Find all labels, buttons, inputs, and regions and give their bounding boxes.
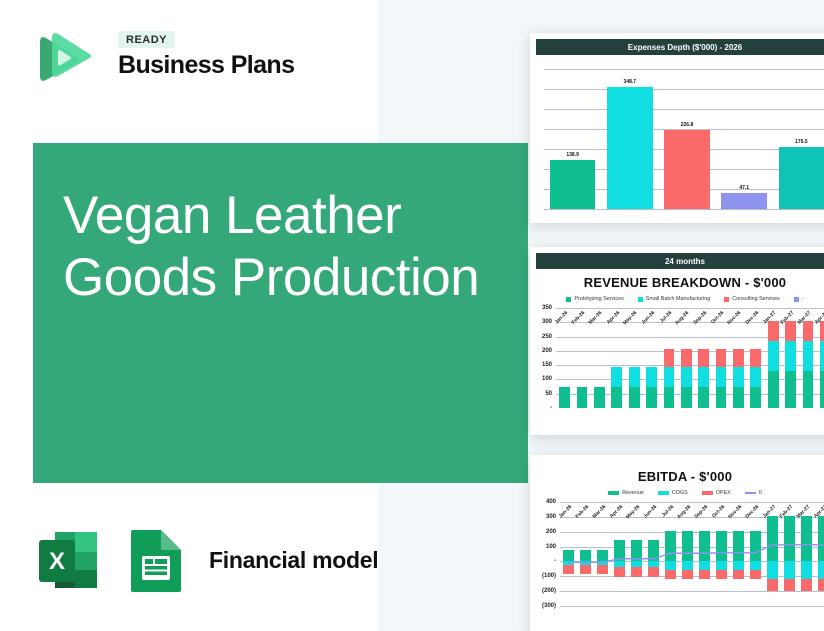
- excel-icon: X: [33, 524, 105, 596]
- stack-segment: [820, 341, 824, 372]
- stack-segment: [733, 387, 744, 408]
- stack-segment: [716, 349, 727, 366]
- y-axis-tick: (300): [542, 603, 556, 609]
- x-axis-label: Sep-26: [692, 310, 708, 326]
- stack-segment: [785, 321, 796, 341]
- stack-segment: [716, 387, 727, 408]
- bar-value-label: 138.9: [566, 152, 579, 158]
- stack-segment: [716, 367, 727, 387]
- x-axis-label: Nov-26: [727, 310, 743, 326]
- legend-item: -: [794, 296, 804, 302]
- y-axis-tick: 200: [542, 348, 552, 354]
- stack-segment: [611, 367, 622, 387]
- stack-segment: [664, 349, 675, 366]
- x-axis-label: Jun-26: [640, 310, 656, 326]
- y-axis-tick: -: [550, 405, 552, 411]
- ebitda-plot: 400300200100-(100)(200)(300)Jan-26Feb-26…: [560, 502, 824, 606]
- y-axis-tick: 50: [545, 391, 552, 397]
- legend-swatch: [566, 297, 571, 302]
- stack-segment: [559, 387, 570, 408]
- stack-segment: [611, 387, 622, 408]
- y-axis-tick: 150: [542, 362, 552, 368]
- svg-text:X: X: [49, 548, 65, 575]
- brand-name: Business Plans: [118, 52, 294, 78]
- stack-segment: [803, 321, 814, 341]
- revenue-chart-title: REVENUE BREAKDOWN - $'000: [530, 275, 824, 290]
- stack-segment: [681, 349, 692, 366]
- revenue-plot: -50100150200250300350Jan-26Feb-26Mar-26A…: [556, 308, 824, 408]
- bar: [664, 130, 710, 209]
- google-sheets-icon: [125, 524, 187, 596]
- bar: [550, 160, 596, 209]
- stack-segment: [594, 387, 605, 408]
- y-axis-tick: 400: [546, 499, 556, 505]
- bar-value-label: 348.7: [624, 79, 637, 85]
- legend-label: 0: [759, 490, 762, 496]
- stack-segment: [803, 341, 814, 372]
- stack-segment: [681, 387, 692, 408]
- legend-label: -: [802, 296, 804, 302]
- gridline: [556, 308, 824, 309]
- legend-swatch: [724, 297, 729, 302]
- bar-value-label: 226.8: [681, 122, 694, 128]
- stack-segment: [768, 371, 779, 408]
- stack-segment: [785, 341, 796, 372]
- stack-segment: [750, 349, 761, 366]
- gridline: [544, 89, 824, 90]
- legend-swatch: [745, 492, 756, 494]
- stack-segment: [664, 367, 675, 387]
- stack-segment: [577, 387, 588, 408]
- y-axis-tick: 350: [542, 305, 552, 311]
- x-axis-label: May-26: [622, 310, 638, 326]
- stack-segment: [698, 367, 709, 387]
- bar-value-label: 176.5: [795, 139, 808, 145]
- x-axis-label: Mar-26: [588, 310, 604, 326]
- ebitda-chart-title: EBITDA - $'000: [530, 469, 824, 484]
- stack-segment: [629, 387, 640, 408]
- chart-card-expenses[interactable]: Expenses Depth ($'000) - 2026 138.9348.7…: [530, 33, 824, 223]
- y-axis-tick: 200: [546, 529, 556, 535]
- ebitda-zero-line: [560, 502, 824, 606]
- legend-label: Revenue: [622, 490, 644, 496]
- chart-card-revenue[interactable]: 24 months REVENUE BREAKDOWN - $'000 Prot…: [530, 247, 824, 435]
- stack-segment: [681, 367, 692, 387]
- legend-label: Small Batch Manufacturing: [646, 296, 710, 302]
- legend-swatch: [608, 491, 619, 495]
- gridline: [544, 69, 824, 70]
- page-title: Vegan Leather Goods Production: [63, 185, 503, 309]
- legend-item: COGS: [658, 490, 688, 496]
- legend-swatch: [638, 297, 643, 302]
- y-axis-tick: -: [554, 558, 556, 564]
- legend-swatch: [702, 491, 713, 495]
- expenses-plot: 138.9348.7226.847.1176.5: [544, 69, 824, 209]
- stack-segment: [803, 371, 814, 408]
- revenue-banner: 24 months: [536, 253, 824, 269]
- legend-label: OPEX: [716, 490, 731, 496]
- y-axis-tick: (100): [542, 573, 556, 579]
- bar: [721, 193, 767, 209]
- stack-segment: [646, 367, 657, 387]
- legend-swatch: [658, 491, 669, 495]
- stack-segment: [750, 367, 761, 387]
- stack-segment: [750, 387, 761, 408]
- y-axis-tick: 100: [546, 544, 556, 550]
- legend-item: 0: [745, 490, 762, 496]
- revenue-legend: Prototyping ServicesSmall Batch Manufact…: [530, 296, 824, 302]
- legend-label: Prototyping Services: [574, 296, 623, 302]
- x-axis-label: Dec-26: [744, 310, 760, 326]
- stack-segment: [664, 387, 675, 408]
- gridline: [560, 606, 824, 607]
- legend-item: Consulting Services: [724, 296, 780, 302]
- brand-header: READY Business Plans: [30, 24, 350, 100]
- legend-item: Small Batch Manufacturing: [638, 296, 710, 302]
- footer-label: Financial model: [209, 547, 378, 574]
- y-axis-tick: 100: [542, 376, 552, 382]
- chart-card-ebitda[interactable]: EBITDA - $'000 RevenueCOGSOPEX0 40030020…: [530, 455, 824, 631]
- stack-segment: [785, 371, 796, 408]
- legend-swatch: [794, 297, 799, 302]
- stack-segment: [733, 367, 744, 387]
- stack-segment: [698, 387, 709, 408]
- gridline: [544, 209, 824, 210]
- y-axis-tick: 250: [542, 334, 552, 340]
- expenses-chart-title: Expenses Depth ($'000) - 2026: [536, 39, 824, 55]
- stack-segment: [768, 321, 779, 341]
- stack-segment: [820, 371, 824, 408]
- stack-segment: [768, 341, 779, 372]
- y-axis-tick: 300: [546, 514, 556, 520]
- legend-item: Revenue: [608, 490, 644, 496]
- play-triangle-logo-icon: [30, 28, 92, 90]
- ebitda-legend: RevenueCOGSOPEX0: [530, 490, 824, 496]
- gridline: [544, 109, 824, 110]
- x-axis-label: Aug-26: [674, 310, 690, 326]
- footer-formats: X Financial model: [33, 521, 378, 599]
- y-axis-tick: (200): [542, 588, 556, 594]
- stack-segment: [733, 349, 744, 366]
- legend-item: Prototyping Services: [566, 296, 623, 302]
- legend-label: Consulting Services: [732, 296, 780, 302]
- stack-segment: [646, 387, 657, 408]
- gridline: [556, 337, 824, 338]
- legend-item: OPEX: [702, 490, 731, 496]
- stack-segment: [629, 367, 640, 387]
- stack-segment: [820, 321, 824, 341]
- y-axis-tick: 300: [542, 319, 552, 325]
- ready-badge: READY: [118, 31, 175, 48]
- stack-segment: [698, 349, 709, 366]
- bar: [779, 147, 824, 209]
- x-axis-label: Feb-26: [571, 310, 587, 326]
- bar-value-label: 47.1: [739, 185, 749, 191]
- hero-block: Vegan Leather Goods Production: [33, 143, 528, 483]
- legend-label: COGS: [672, 490, 688, 496]
- bar: [607, 87, 653, 209]
